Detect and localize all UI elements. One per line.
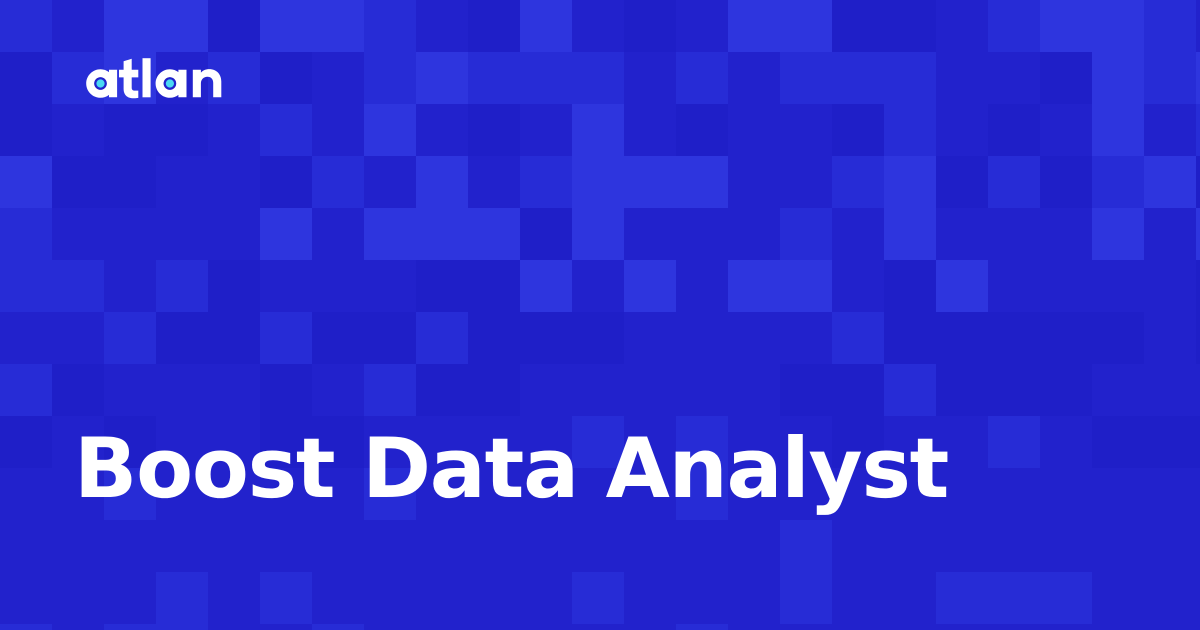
page-title: Boost Data Analyst Productivity With The…: [74, 204, 1144, 630]
atlan-wordmark-icon: [78, 57, 230, 107]
headline-line-1: Boost Data Analyst: [74, 416, 1144, 522]
card-content: atlan Boost Data Analyst Productivity Wi…: [0, 0, 1200, 630]
atlan-logo[interactable]: atlan: [78, 56, 230, 108]
social-card: atlan Boost Data Analyst Productivity Wi…: [0, 0, 1200, 630]
